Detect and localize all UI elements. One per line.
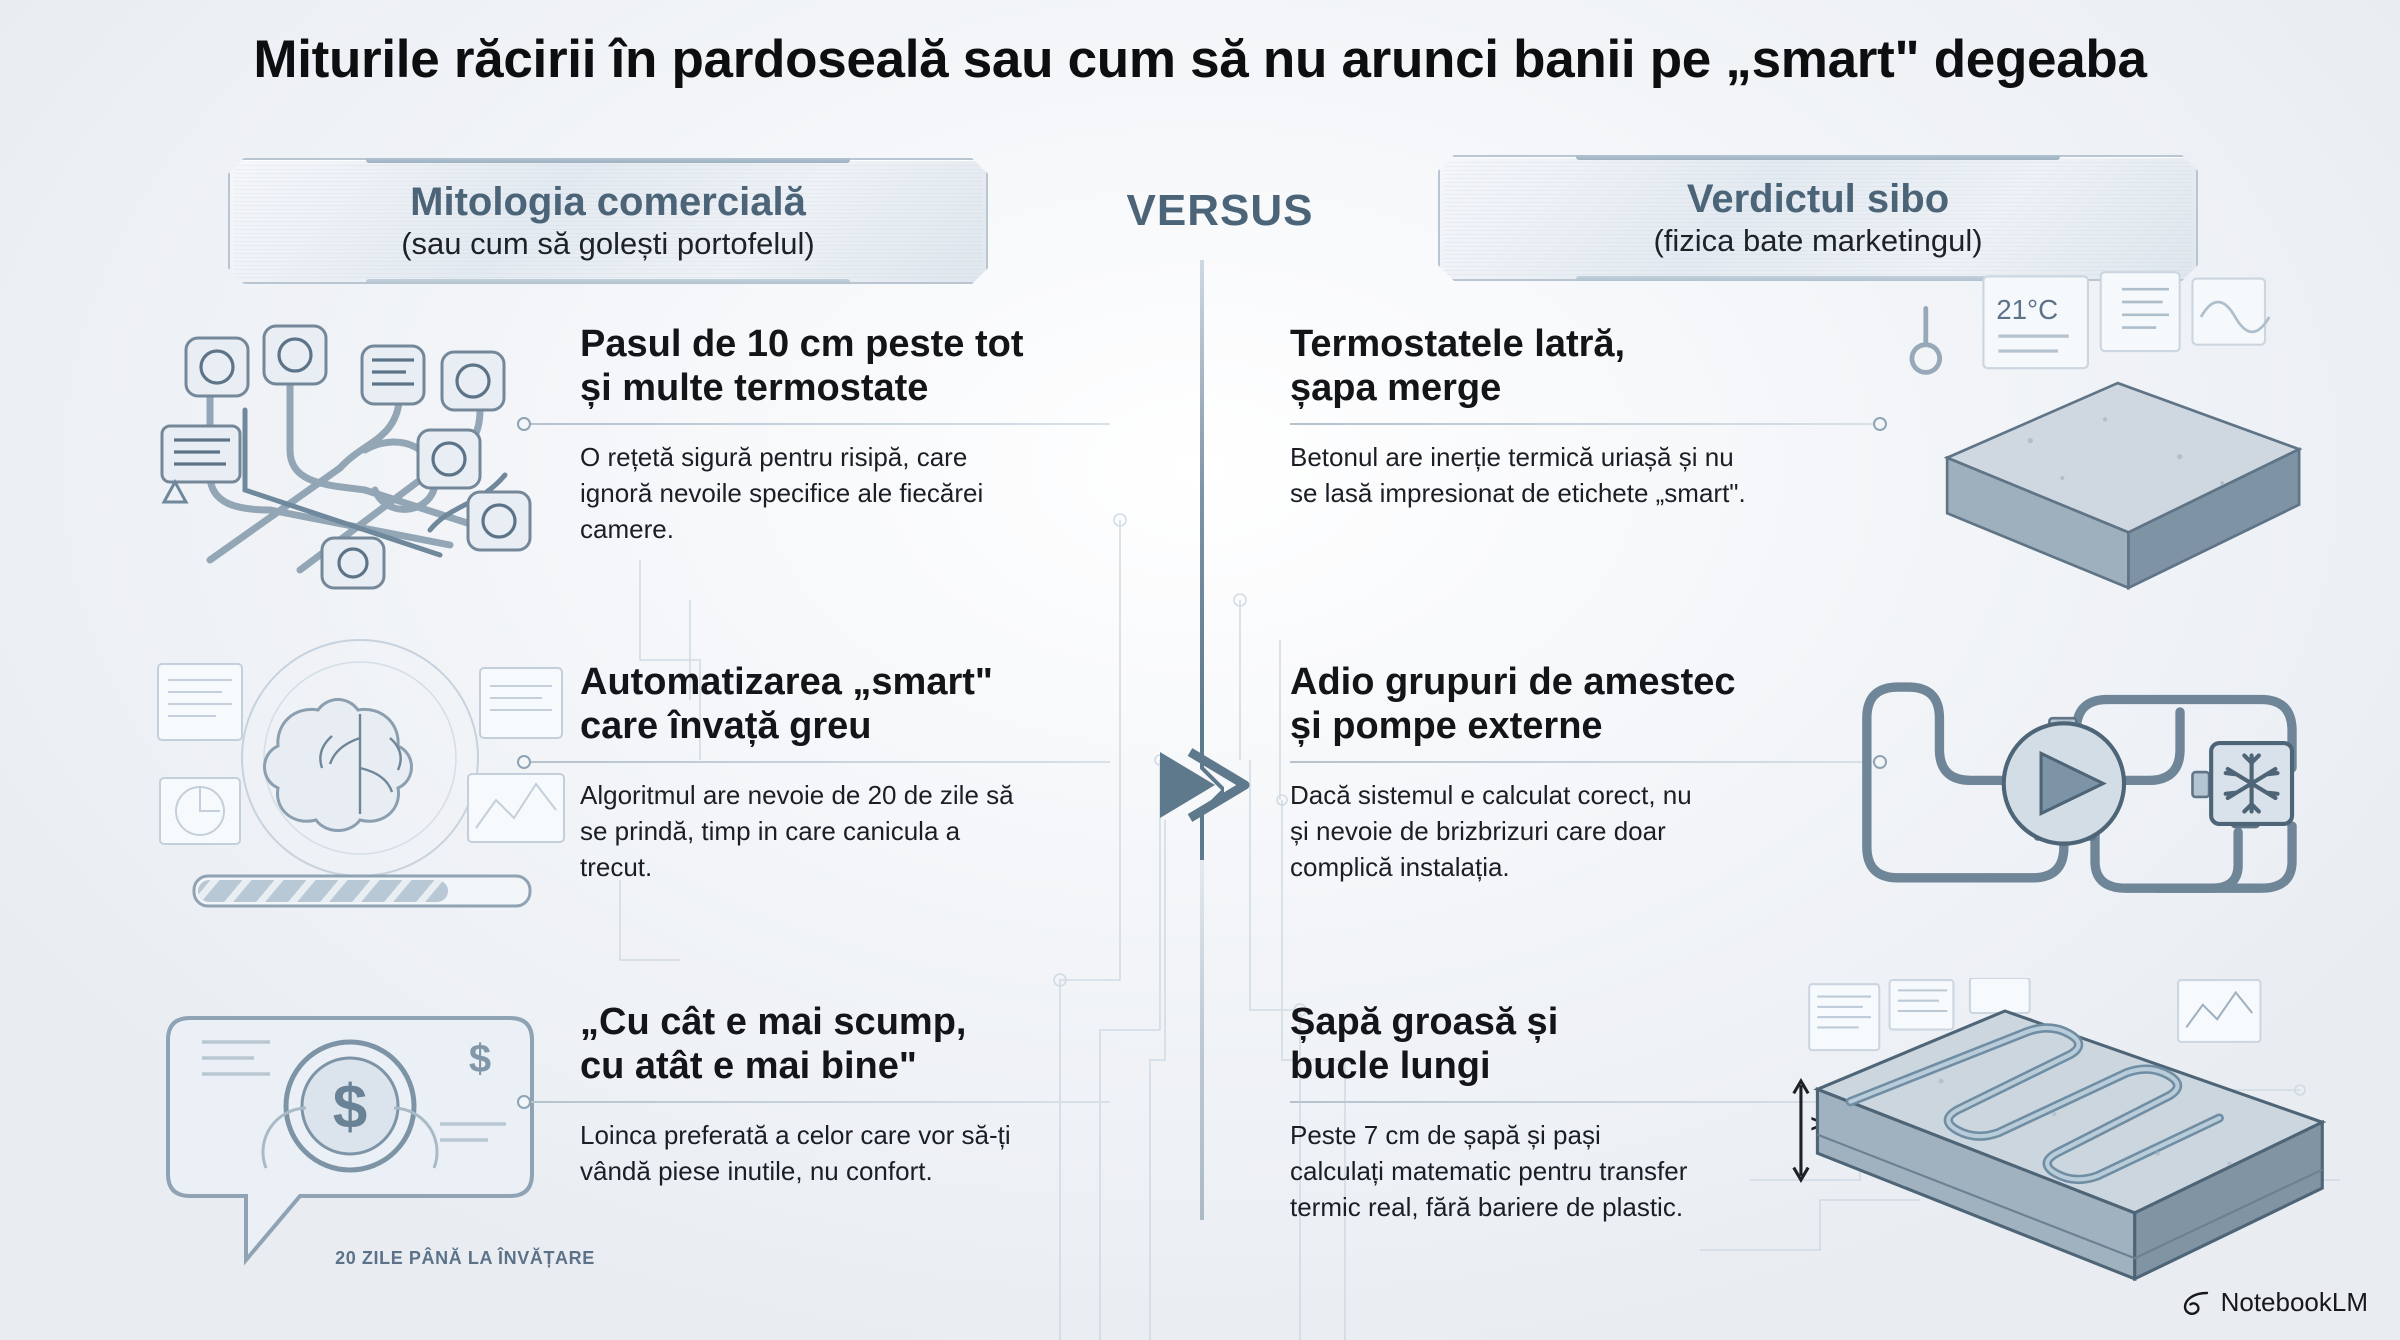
row-3-myth-rule	[524, 1092, 1110, 1112]
row-3-verdict-body: Peste 7 cm de șapă și pași calculați mat…	[1290, 1118, 1810, 1226]
row-2-myth-text: Automatizarea „smart" care învață greu A…	[580, 660, 1110, 886]
brain-learning-dashboard-icon	[150, 628, 570, 928]
row-1-verdict-heading: Termostatele latră, șapa merge	[1290, 322, 1820, 410]
badge-right-subtitle: (fizica bate marketingul)	[1653, 224, 1982, 258]
tangled-pipes-thermostats-icon	[150, 290, 570, 590]
row-2-myth-body: Algoritmul are nevoie de 20 de zile să s…	[580, 778, 1100, 886]
thickness-arrow	[1794, 1081, 1808, 1180]
notebooklm-spiral-icon	[2181, 1288, 2211, 1318]
row-1-myth-rule	[524, 414, 1110, 434]
notebooklm-watermark: NotebookLM	[2181, 1287, 2368, 1318]
row-3-myth-heading: „Cu cât e mai scump, cu atât e mai bine"	[580, 1000, 1110, 1088]
page-title: Miturile răcirii în pardoseală sau cum s…	[0, 30, 2400, 91]
row-2-verdict-heading: Adio grupuri de amestec și pompe externe	[1290, 660, 1820, 748]
concrete-slab-icon: 21°C	[1865, 270, 2345, 590]
row-3-myth-text: „Cu cât e mai scump, cu atât e mai bine"…	[580, 1000, 1110, 1190]
slab-with-loops-icon	[1785, 978, 2365, 1318]
notebooklm-label: NotebookLM	[2221, 1287, 2368, 1318]
slab-3d	[1947, 383, 2299, 588]
badge-left-title: Mitologia comercială	[410, 181, 806, 223]
row-2-myth-heading: Automatizarea „smart" care învață greu	[580, 660, 1110, 748]
badge-right-title: Verdictul sibo	[1687, 178, 1949, 220]
row-1-myth-body: O rețetă sigură pentru risipă, care igno…	[580, 440, 1100, 548]
row-1-myth-heading: Pasul de 10 cm peste tot și multe termos…	[580, 322, 1110, 410]
rule-dot	[517, 755, 531, 769]
progress-bar	[190, 874, 530, 910]
row-2-verdict-text: Adio grupuri de amestec și pompe externe…	[1290, 660, 1820, 886]
badge-left-subtitle: (sau cum să golești portofelul)	[401, 227, 815, 261]
row-2-verdict-rule	[1290, 752, 1880, 772]
pump-circuit-snowflake-icon	[1845, 658, 2345, 938]
rule-dot	[517, 417, 531, 431]
slab-temperature-label: 21°C	[1996, 294, 2058, 325]
row-2-verdict-body: Dacă sistemul e calculat corect, nu și n…	[1290, 778, 1810, 886]
money-speech-bubble-icon: $ $	[150, 998, 570, 1298]
row-2-myth-rule	[524, 752, 1110, 772]
infographic-canvas: Miturile răcirii în pardoseală sau cum s…	[0, 0, 2400, 1340]
row-3-myth-body: Loinca preferată a celor care vor să-ți …	[580, 1118, 1100, 1190]
row-3-verdict-heading: Șapă groasă și bucle lungi	[1290, 1000, 1820, 1088]
row-1-verdict-text: Termostatele latră, șapa merge Betonul a…	[1290, 322, 1820, 512]
rule-dot	[517, 1095, 531, 1109]
badge-commercial-mythology: Mitologia comercială (sau cum să golești…	[228, 158, 988, 284]
row-1-verdict-rule	[1290, 414, 1880, 434]
row-1-myth-text: Pasul de 10 cm peste tot și multe termos…	[580, 322, 1110, 548]
badge-sibo-verdict: Verdictul sibo (fizica bate marketingul)	[1438, 155, 2198, 281]
row-3-verdict-text: Șapă groasă și bucle lungi Peste 7 cm de…	[1290, 1000, 1820, 1226]
dollar-glyph-small: $	[469, 1037, 491, 1081]
versus-label: VERSUS	[1090, 186, 1350, 236]
dollar-glyph: $	[333, 1073, 367, 1142]
row-1-verdict-body: Betonul are inerție termică uriașă și nu…	[1290, 440, 1810, 512]
